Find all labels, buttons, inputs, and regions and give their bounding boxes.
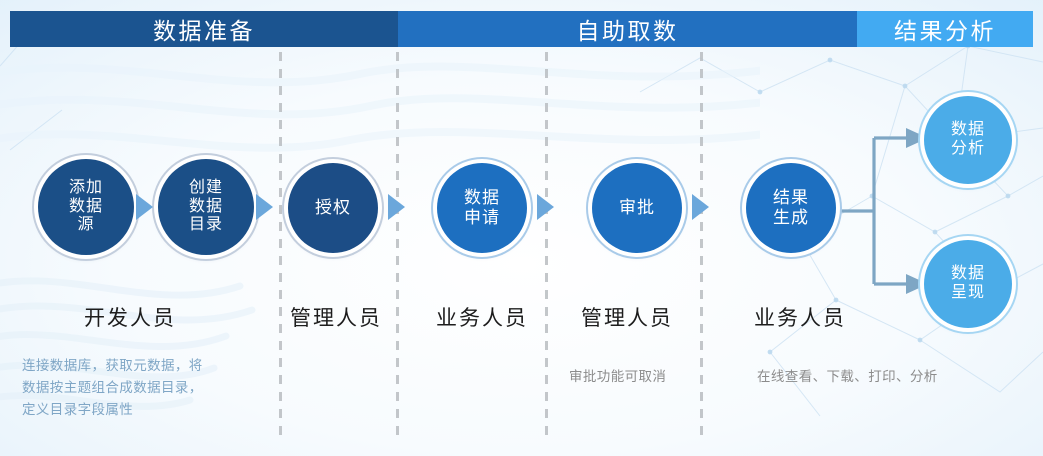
wave-decoration-top [0, 54, 760, 174]
role-label-developer: 开发人员 [84, 302, 176, 332]
triangle-right-icon [136, 194, 153, 220]
role-label-business-1: 业务人员 [436, 302, 528, 332]
role-label-admin-2: 管理人员 [581, 302, 673, 332]
phase-bar-self-service-query[interactable]: 自助取数 [398, 11, 857, 47]
node-approval[interactable]: 审批 [592, 163, 682, 253]
note-data-preparation: 连接数据库，获取元数据，将 数据按主题组合成数据目录， 定义目录字段属性 [22, 355, 272, 421]
node-label: 数据分析 [951, 121, 985, 159]
node-data-analysis[interactable]: 数据分析 [924, 96, 1012, 184]
note-approval: 审批功能可取消 [569, 366, 719, 388]
triangle-right-icon [388, 194, 405, 220]
column-divider-1 [279, 52, 282, 442]
node-label: 创建数据目录 [189, 179, 223, 236]
phase-bar-result-analysis[interactable]: 结果分析 [857, 11, 1033, 47]
phase-bar-label: 结果分析 [894, 12, 996, 46]
phase-bar-label: 数据准备 [153, 12, 255, 46]
node-label: 审批 [619, 198, 655, 218]
node-label: 数据呈现 [951, 265, 985, 303]
node-label: 授权 [315, 198, 351, 218]
phase-bar-data-preparation[interactable]: 数据准备 [10, 11, 398, 47]
column-divider-3 [545, 52, 548, 442]
triangle-right-icon [537, 194, 554, 220]
node-create-catalog[interactable]: 创建数据目录 [158, 159, 254, 255]
phase-header-bar-row: 数据准备 自助取数 结果分析 [10, 11, 1033, 47]
triangle-right-icon [692, 194, 709, 220]
role-label-admin-1: 管理人员 [290, 302, 382, 332]
node-label: 结果生成 [773, 188, 809, 228]
role-label-business-2: 业务人员 [754, 302, 846, 332]
flow-diagram-canvas: 数据准备 自助取数 结果分析 添加数据源 创建数据目录 授权 数据申请 [0, 0, 1043, 456]
node-authorize[interactable]: 授权 [288, 163, 378, 253]
node-result-generation[interactable]: 结果生成 [746, 163, 836, 253]
node-add-data-source[interactable]: 添加数据源 [38, 159, 134, 255]
note-result-analysis: 在线查看、下载、打印、分析 [757, 366, 1007, 388]
triangle-right-icon [256, 194, 273, 220]
node-data-request[interactable]: 数据申请 [437, 163, 527, 253]
column-divider-2 [396, 52, 399, 442]
node-label: 添加数据源 [69, 179, 103, 236]
phase-bar-label: 自助取数 [577, 12, 679, 46]
node-data-presentation[interactable]: 数据呈现 [924, 240, 1012, 328]
node-label: 数据申请 [464, 188, 500, 228]
